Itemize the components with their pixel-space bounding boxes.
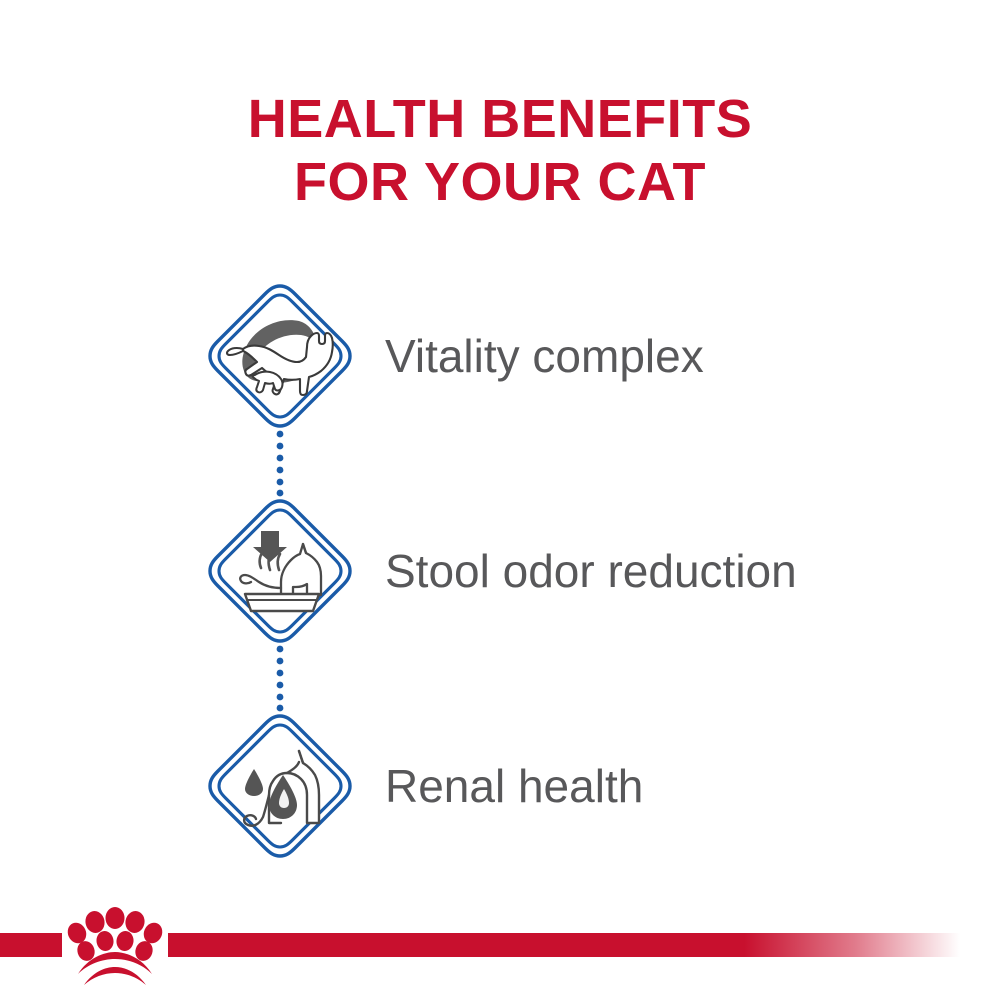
cat-stretching-icon [207, 283, 353, 429]
footer-bar-left [0, 933, 62, 957]
page-title: HEALTH BENEFITS FOR YOUR CAT [0, 88, 1000, 214]
footer [0, 890, 1000, 1000]
cat-litter-box-odor-icon [207, 498, 353, 644]
connector-dots-2 [274, 643, 286, 713]
connector-dots-1 [274, 428, 286, 498]
infographic-page: HEALTH BENEFITS FOR YOUR CAT [0, 0, 1000, 1000]
page-title-line-1: HEALTH BENEFITS [0, 88, 1000, 151]
benefit-item-renal: Renal health [0, 713, 1000, 858]
cat-water-droplet-icon [207, 713, 353, 859]
footer-bar-right [168, 933, 968, 957]
page-title-line-2: FOR YOUR CAT [0, 151, 1000, 214]
benefit-label-vitality: Vitality complex [385, 283, 704, 429]
benefits-list: Vitality complex [0, 283, 1000, 858]
royal-canin-crown-logo [62, 902, 168, 990]
benefit-label-stool-odor: Stool odor reduction [385, 498, 797, 644]
benefit-item-vitality: Vitality complex [0, 283, 1000, 428]
benefit-item-stool-odor: Stool odor reduction [0, 498, 1000, 643]
benefit-label-renal: Renal health [385, 713, 643, 859]
